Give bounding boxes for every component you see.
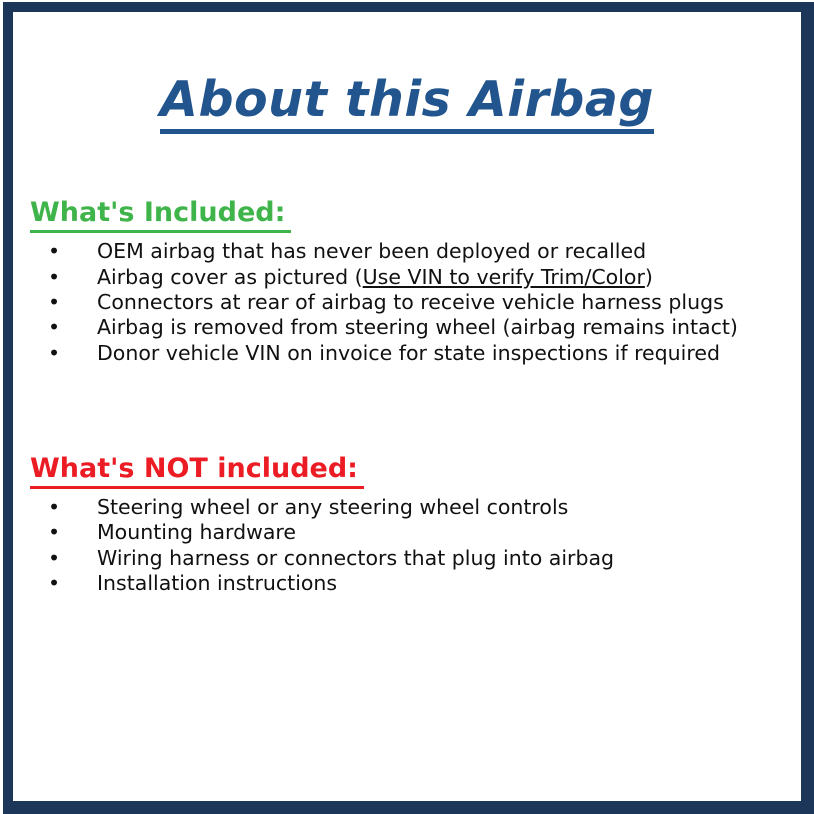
list-item: •Connectors at rear of airbag to receive… <box>30 290 801 315</box>
page-title: About this Airbag <box>160 74 654 134</box>
bullet-dot-icon: • <box>48 520 58 545</box>
list-item-label: Donor vehicle VIN on invoice for state i… <box>97 341 720 365</box>
list-item: •OEM airbag that has never been deployed… <box>30 239 801 264</box>
airbag-info-page: About this Airbag What's Included: •OEM … <box>0 0 814 814</box>
list-item-label: Steering wheel or any steering wheel con… <box>97 495 568 519</box>
list-item: •Donor vehicle VIN on invoice for state … <box>30 341 801 366</box>
underlined-note: Use VIN to verify Trim/Color <box>363 265 645 289</box>
bullet-dot-icon: • <box>48 315 58 340</box>
border-frame-bottom <box>3 801 814 814</box>
bullet-dot-icon: • <box>48 239 58 264</box>
list-item-label: Mounting hardware <box>97 520 296 544</box>
list-item-label: Airbag cover as pictured (Use VIN to ver… <box>97 265 653 289</box>
section-heading-not-included: What's NOT included: <box>30 454 364 489</box>
bullet-dot-icon: • <box>48 290 58 315</box>
bullet-dot-icon: • <box>48 495 58 520</box>
section-included: What's Included: •OEM airbag that has ne… <box>13 198 801 366</box>
bullet-dot-icon: • <box>48 571 58 596</box>
page-title-container: About this Airbag <box>13 74 801 134</box>
list-item: •Installation instructions <box>30 571 801 596</box>
list-item-label: Airbag is removed from steering wheel (a… <box>97 315 738 339</box>
not-included-list: •Steering wheel or any steering wheel co… <box>30 495 801 597</box>
bullet-dot-icon: • <box>48 265 58 290</box>
section-heading-included: What's Included: <box>30 198 291 233</box>
list-item: •Airbag is removed from steering wheel (… <box>30 315 801 340</box>
list-item-label: Installation instructions <box>97 571 337 595</box>
border-frame-top <box>3 2 814 12</box>
list-item-label: Wiring harness or connectors that plug i… <box>97 546 614 570</box>
bullet-dot-icon: • <box>48 341 58 366</box>
border-frame-left <box>3 2 13 814</box>
list-item: •Steering wheel or any steering wheel co… <box>30 495 801 520</box>
bullet-dot-icon: • <box>48 546 58 571</box>
list-item-label: Connectors at rear of airbag to receive … <box>97 290 724 314</box>
page-content: About this Airbag What's Included: •OEM … <box>13 12 801 801</box>
border-frame-right <box>801 2 814 814</box>
section-not-included: What's NOT included: •Steering wheel or … <box>13 454 801 596</box>
list-item: •Mounting hardware <box>30 520 801 545</box>
list-item: •Wiring harness or connectors that plug … <box>30 546 801 571</box>
list-item-label: OEM airbag that has never been deployed … <box>97 239 646 263</box>
list-item: •Airbag cover as pictured (Use VIN to ve… <box>30 265 801 290</box>
included-list: •OEM airbag that has never been deployed… <box>30 239 801 366</box>
